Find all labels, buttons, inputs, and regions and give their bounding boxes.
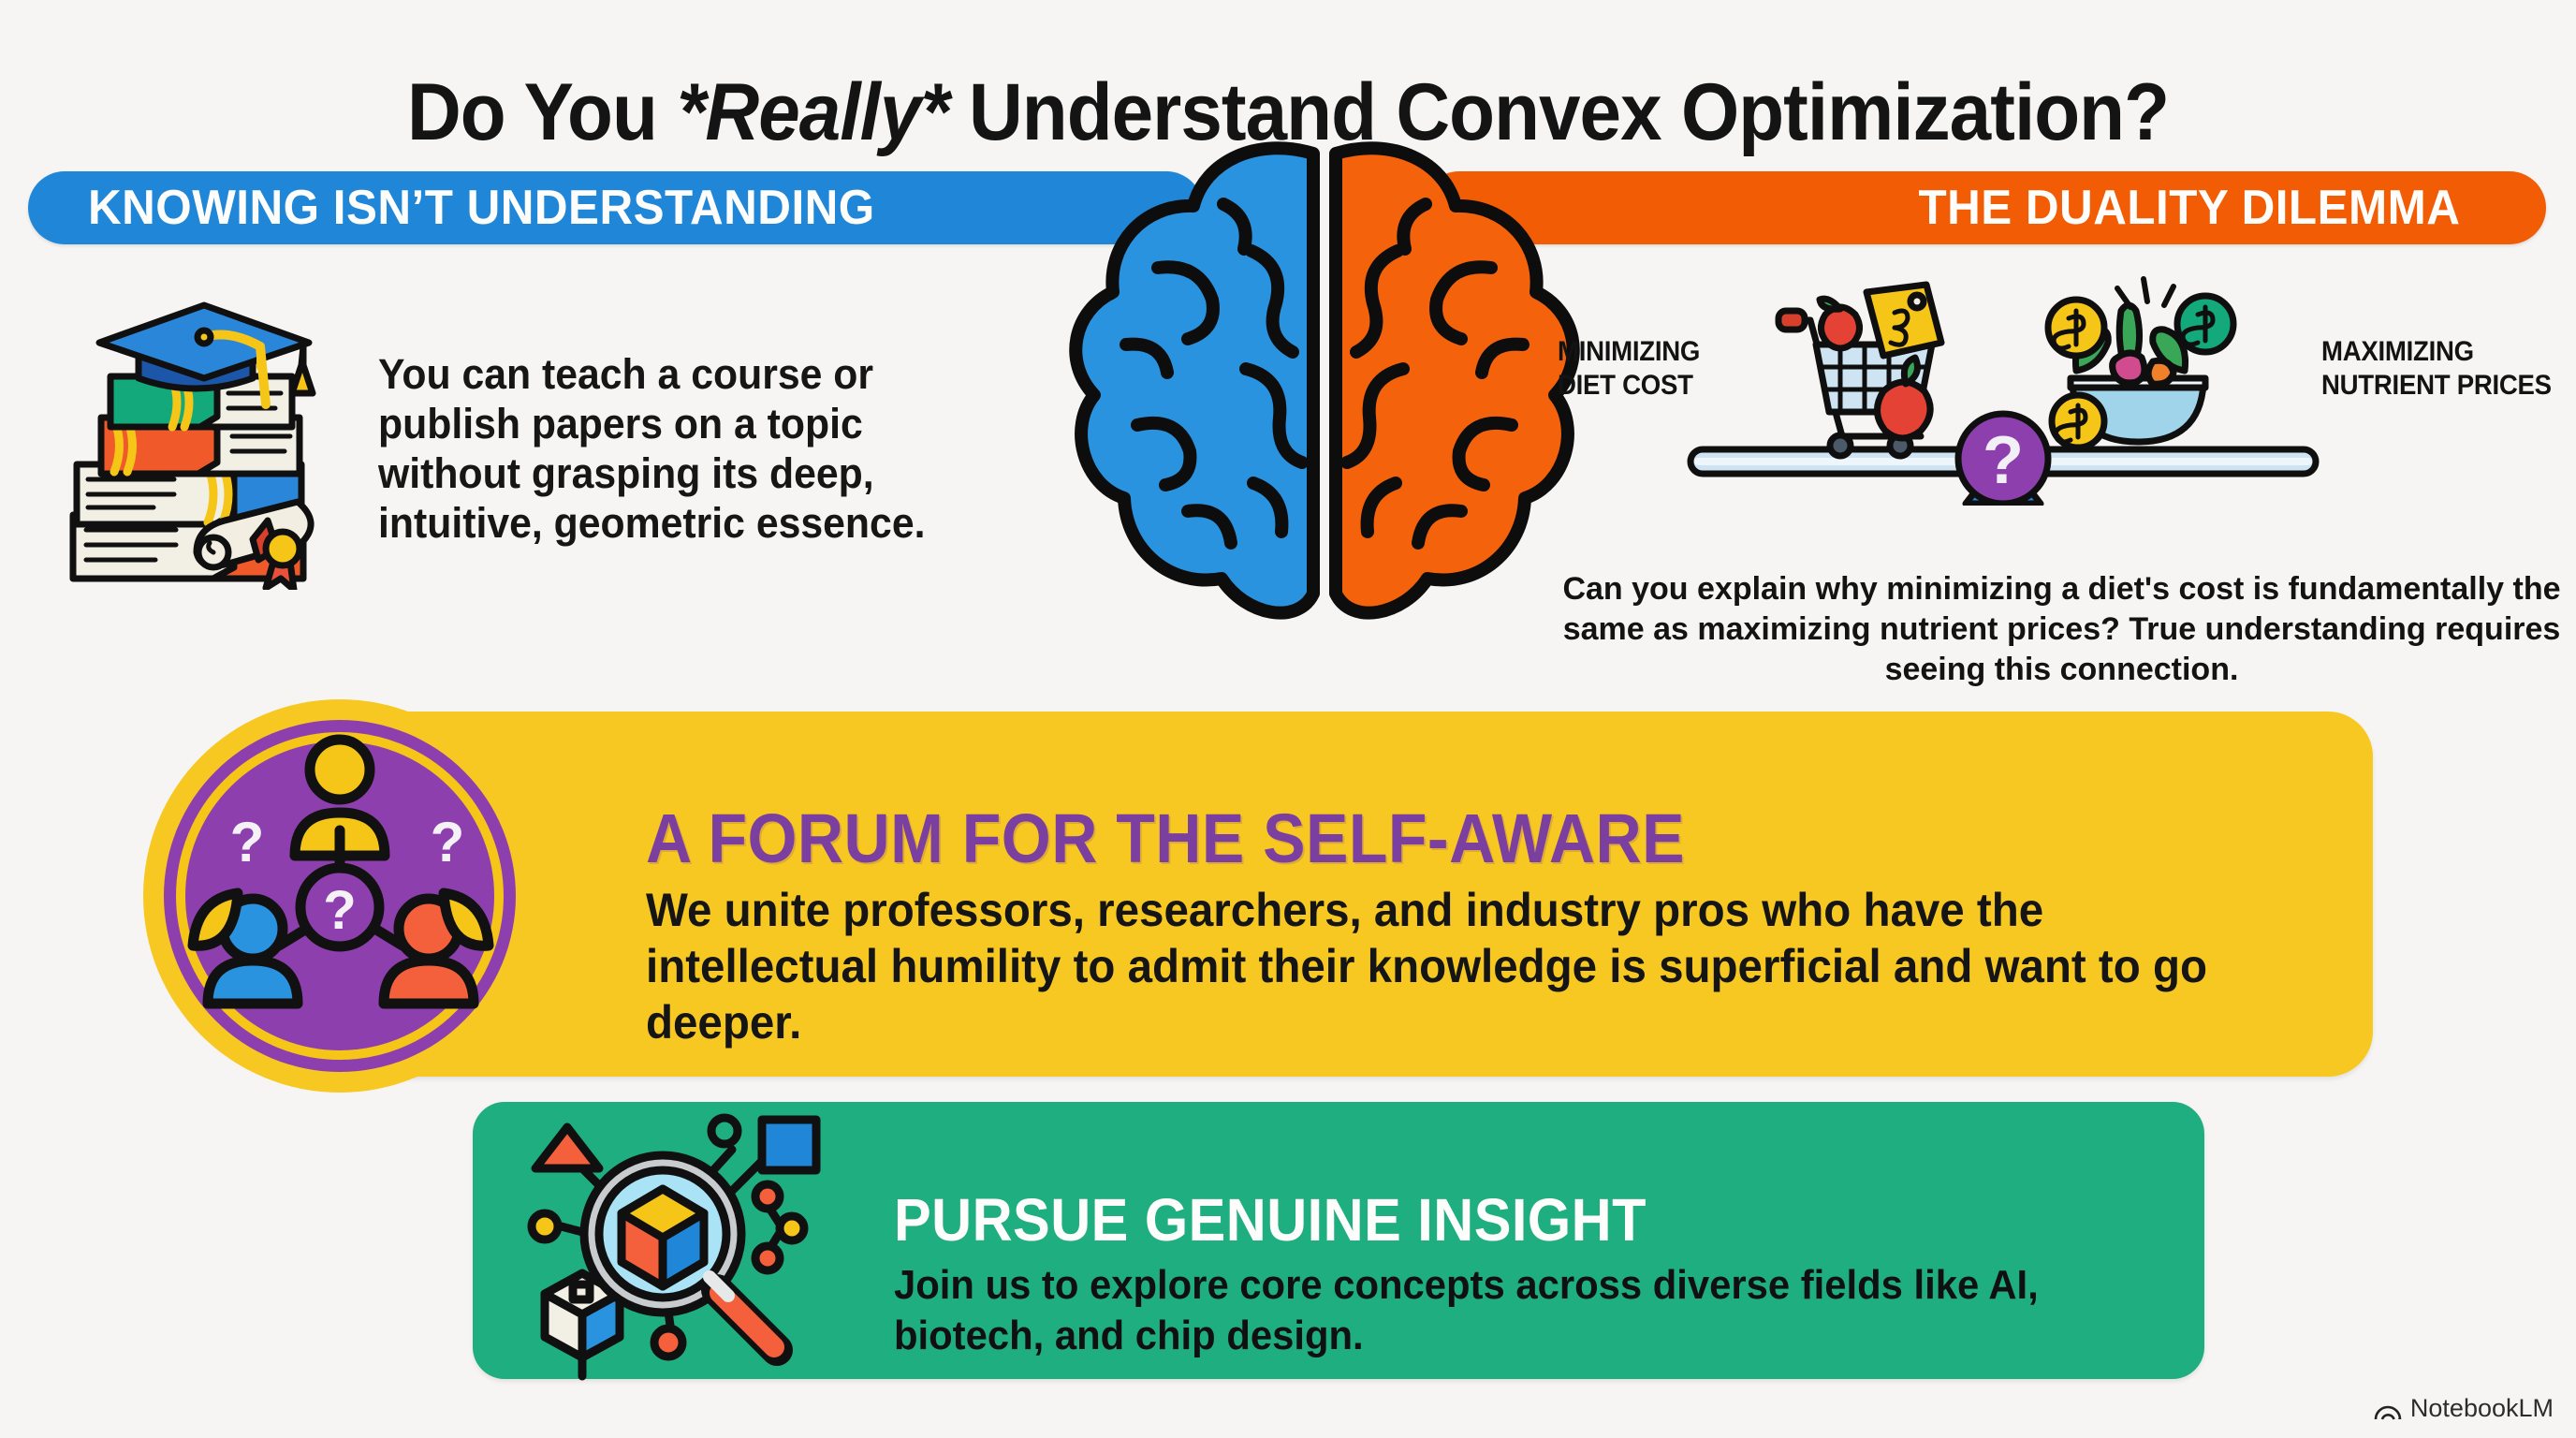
label-maximizing-nutrient-prices: MAXIMIZING NUTRIENT PRICES: [2321, 335, 2555, 403]
magnifier-network-cube-icon: [487, 1110, 842, 1401]
label-minimizing-diet-cost: MINIMIZING DIET COST: [1558, 335, 1730, 403]
graduation-books-icon: [49, 281, 358, 590]
banner-duality-label: THE DUALITY DILEMMA: [1918, 180, 2460, 236]
forum-body-text: We unite professors, researchers, and in…: [646, 882, 2238, 1050]
hub-question-mark: ?: [323, 880, 356, 941]
brain-hemispheres-icon: [1053, 127, 1596, 652]
insight-title: PURSUE GENUINE INSIGHT: [894, 1185, 2113, 1255]
notebooklm-label: NotebookLM: [2410, 1394, 2554, 1423]
balance-scale-icon: ?: [1685, 271, 2321, 506]
notebooklm-watermark: NotebookLM: [2374, 1394, 2554, 1423]
people-network-question-icon: ? ? ?: [139, 695, 541, 1097]
notebooklm-arc-icon: [2374, 1397, 2402, 1421]
forum-title: A FORUM FOR THE SELF-AWARE: [646, 799, 2213, 879]
banner-knowing-isnt-understanding: KNOWING ISN’T UNDERSTANDING: [28, 171, 1203, 244]
infographic-canvas: Do You *Really* Understand Convex Optimi…: [0, 0, 2576, 1438]
banner-knowing-label: KNOWING ISN’T UNDERSTANDING: [88, 180, 875, 236]
page-title-emphasis: *Really*: [677, 67, 948, 157]
left-question-mark: ?: [230, 811, 265, 873]
insight-body-text: Join us to explore core concepts across …: [894, 1260, 2139, 1361]
duality-body-text: Can you explain why minimizing a diet's …: [1554, 569, 2569, 690]
fulcrum-question-mark: ?: [1983, 423, 2024, 498]
knowing-body-text: You can teach a course or publish papers…: [378, 349, 1001, 548]
page-title-prefix: Do You: [407, 67, 677, 157]
right-question-mark: ?: [431, 811, 465, 873]
